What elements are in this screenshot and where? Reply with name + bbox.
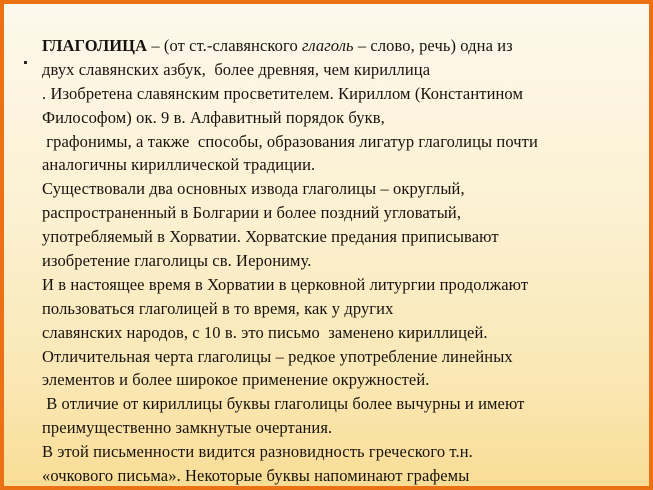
text-run: Отличительная черта глаголицы – редкое у… <box>42 347 513 366</box>
text-run: И в настоящее время в Хорватии в церковн… <box>42 275 528 294</box>
text-run: аналогичны кириллической традиции. <box>42 155 315 174</box>
article-body: ГЛАГОЛИЦА – (от ст.-славянского глаголь … <box>42 34 632 490</box>
text-run: «очкового письма». Некоторые буквы напом… <box>42 466 469 485</box>
text-run: графонимы, а также способы, образования … <box>42 132 538 151</box>
text-run: В этой письменности видится разновидност… <box>42 442 473 461</box>
text-line: двух славянских азбук, более древняя, че… <box>42 58 632 82</box>
text-line: . Изобретена славянским просветителем. К… <box>42 82 632 106</box>
text-run: употребляемый в Хорватии. Хорватские пре… <box>42 227 499 246</box>
text-run: элементов и более широкое применение окр… <box>42 370 429 389</box>
text-line: употребляемый в Хорватии. Хорватские пре… <box>42 225 632 249</box>
text-run: славянских народов, с 10 в. это письмо з… <box>42 323 488 342</box>
text-run: пользоваться глаголицей в то время, как … <box>42 299 393 318</box>
text-run: изобретение глаголицы св. Иерониму. <box>42 251 312 270</box>
text-run: . Изобретена славянским просветителем. К… <box>42 84 523 103</box>
text-run: Существовали два основных извода глаголи… <box>42 179 465 198</box>
text-line: Отличительная черта глаголицы – редкое у… <box>42 345 632 369</box>
text-line: распространенный в Болгарии и более позд… <box>42 201 632 225</box>
text-line: изобретение глаголицы св. Иерониму. <box>42 249 632 273</box>
text-line: графонимы, а также способы, образования … <box>42 130 632 154</box>
text-run: двух славянских азбук, более древняя, че… <box>42 60 430 79</box>
text-line: элементов и более широкое применение окр… <box>42 368 632 392</box>
text-line: преимущественно замкнутые очертания. <box>42 416 632 440</box>
etymology-italic: глаголь <box>302 36 354 55</box>
slide-canvas: ГЛАГОЛИЦА – (от ст.-славянского глаголь … <box>0 0 653 490</box>
text-line: «очкового письма». Некоторые буквы напом… <box>42 464 632 488</box>
text-run: Философом) ок. 9 в. Алфавитный порядок б… <box>42 108 385 127</box>
headword: ГЛАГОЛИЦА <box>42 36 147 55</box>
text-run: распространенный в Болгарии и более позд… <box>42 203 461 222</box>
text-line: Философом) ок. 9 в. Алфавитный порядок б… <box>42 106 632 130</box>
stray-dot-mark <box>24 61 27 64</box>
text-line: В отличие от кириллицы буквы глаголицы б… <box>42 392 632 416</box>
text-line: аналогичны кириллической традиции. <box>42 153 632 177</box>
text-line: ГЛАГОЛИЦА – (от ст.-славянского глаголь … <box>42 34 632 58</box>
text-run: – (от ст.-славянского <box>147 36 302 55</box>
text-line: славянских народов, с 10 в. это письмо з… <box>42 321 632 345</box>
text-run: преимущественно замкнутые очертания. <box>42 418 332 437</box>
text-line: И в настоящее время в Хорватии в церковн… <box>42 273 632 297</box>
text-line: Существовали два основных извода глаголи… <box>42 177 632 201</box>
text-run: В отличие от кириллицы буквы глаголицы б… <box>42 394 525 413</box>
text-run: – слово, речь) одна из <box>354 36 513 55</box>
text-line: В этой письменности видится разновидност… <box>42 440 632 464</box>
text-line: пользоваться глаголицей в то время, как … <box>42 297 632 321</box>
